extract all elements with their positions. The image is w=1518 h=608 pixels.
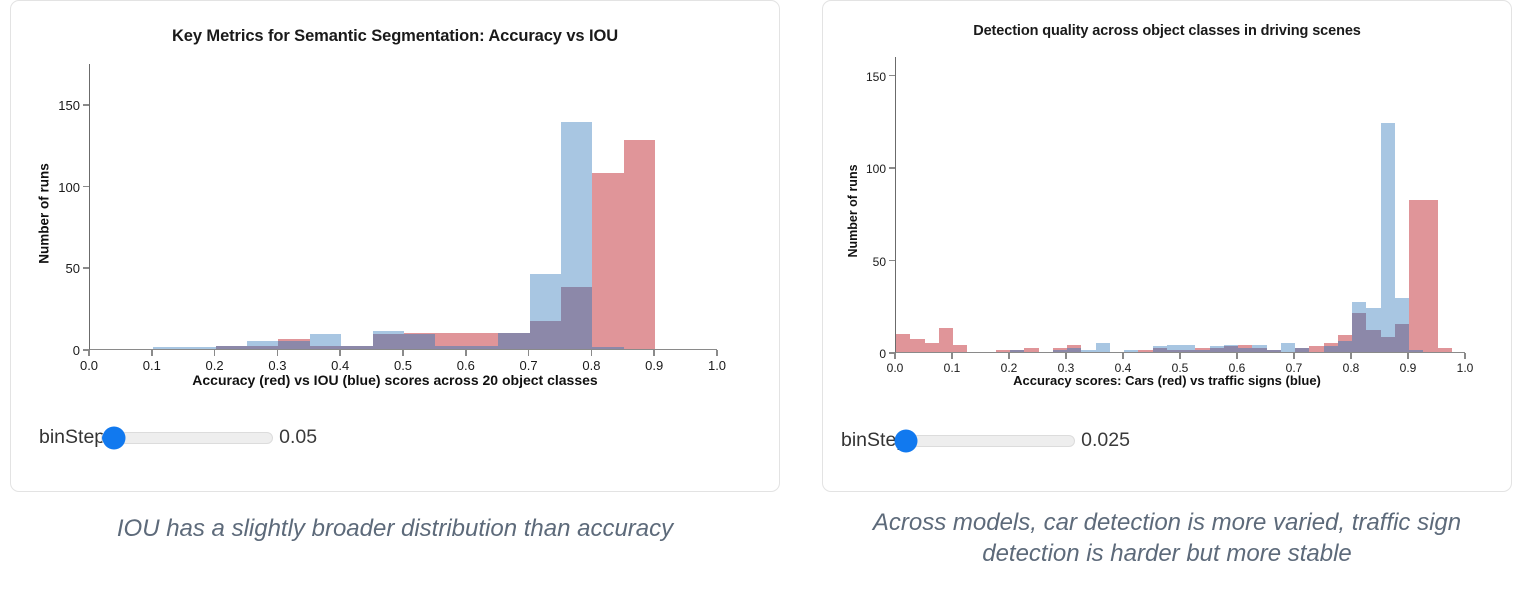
histogram-bar xyxy=(925,343,939,352)
histogram-bar-overlap xyxy=(467,346,498,349)
x-tick-mark xyxy=(1236,353,1238,359)
x-tick-mark xyxy=(214,350,216,356)
x-tick-label: 0.5 xyxy=(394,358,412,373)
x-tick-label: 0.1 xyxy=(143,358,161,373)
histogram-bar xyxy=(1438,348,1452,352)
histogram-bar-overlap xyxy=(310,346,341,349)
y-axis-label-left: Number of runs xyxy=(37,154,52,274)
y-axis-label-right: Number of runs xyxy=(846,151,860,271)
histogram-bar xyxy=(1138,350,1152,352)
chart-title-left: Key Metrics for Semantic Segmentation: A… xyxy=(11,27,779,46)
x-tick-label: 0.0 xyxy=(80,358,98,373)
y-tick-label: 50 xyxy=(66,261,80,276)
histogram-bar-overlap xyxy=(1167,350,1181,352)
histogram-bar xyxy=(1309,346,1323,352)
x-tick-mark xyxy=(528,350,530,356)
x-tick-label: 0.2 xyxy=(206,358,224,373)
histogram-bar xyxy=(1409,200,1423,352)
histogram-bars-right xyxy=(896,57,1465,352)
histogram-bar xyxy=(1024,348,1038,352)
histogram-bar-overlap xyxy=(404,334,435,349)
chart-card-left: Key Metrics for Semantic Segmentation: A… xyxy=(10,0,780,492)
plot-area-left: 0501001500.00.10.20.30.40.50.60.70.80.91… xyxy=(11,46,779,376)
slider-thumb[interactable] xyxy=(894,429,917,452)
x-tick-mark xyxy=(1008,353,1010,359)
histogram-bar xyxy=(1281,343,1295,352)
histogram-bar xyxy=(996,350,1010,352)
slider-label-binstep: binStep xyxy=(39,426,105,449)
histogram-bar xyxy=(624,140,655,349)
x-tick-mark xyxy=(1179,353,1181,359)
histogram-bar xyxy=(1381,123,1395,352)
y-tick-label: 100 xyxy=(866,162,886,176)
caption-left: IOU has a slightly broader distribution … xyxy=(10,514,780,545)
histogram-bar-overlap xyxy=(435,346,466,349)
histogram-bar-overlap xyxy=(1210,348,1224,352)
dashboard-root: Key Metrics for Semantic Segmentation: A… xyxy=(0,0,1518,608)
x-tick-mark xyxy=(1122,353,1124,359)
x-tick-mark xyxy=(339,350,341,356)
y-tick-label: 150 xyxy=(58,98,80,113)
histogram-bar xyxy=(153,347,184,349)
x-tick-mark xyxy=(402,350,404,356)
x-tick-label: 1.0 xyxy=(708,358,726,373)
histogram-bar xyxy=(896,334,910,353)
histogram-bar-overlap xyxy=(216,346,247,349)
histogram-bar-overlap xyxy=(373,334,404,349)
y-tick-label: 100 xyxy=(58,180,80,195)
x-tick-mark xyxy=(1293,353,1295,359)
histogram-bar xyxy=(1423,200,1437,352)
y-tick-label: 0 xyxy=(73,343,80,358)
panel-left: Key Metrics for Semantic Segmentation: A… xyxy=(10,0,800,608)
histogram-bar-overlap xyxy=(561,287,592,349)
histogram-bar xyxy=(1081,350,1095,352)
x-tick-mark xyxy=(88,350,90,356)
slider-row-left[interactable]: binStep 0.05 xyxy=(39,426,317,449)
histogram-bar-overlap xyxy=(341,346,372,349)
slider-row-right[interactable]: binStep 0.025 xyxy=(841,429,1130,452)
histogram-bar-overlap xyxy=(1252,348,1266,352)
y-tick-label: 0 xyxy=(879,347,886,361)
histogram-bar-overlap xyxy=(1053,350,1067,352)
y-tick-mark xyxy=(83,104,89,106)
histogram-bar-overlap xyxy=(1067,348,1081,352)
histogram-bar-overlap xyxy=(498,333,529,349)
slider-thumb[interactable] xyxy=(103,426,126,449)
histogram-bar-overlap xyxy=(1153,348,1167,352)
x-tick-mark xyxy=(653,350,655,356)
x-axis-label-left: Accuracy (red) vs IOU (blue) scores acro… xyxy=(11,372,779,388)
x-tick-label: 0.7 xyxy=(520,358,538,373)
histogram-bar xyxy=(1096,343,1110,352)
slider-value: 0.025 xyxy=(1081,429,1130,452)
histogram-bar-overlap xyxy=(1267,350,1281,352)
histogram-bar-overlap xyxy=(1324,346,1338,352)
caption-right: Across models, car detection is more var… xyxy=(822,508,1512,569)
x-tick-mark xyxy=(151,350,153,356)
histogram-bar-overlap xyxy=(1395,324,1409,352)
histogram-bar-overlap xyxy=(1366,330,1380,352)
histogram-bar-overlap xyxy=(1224,346,1238,352)
x-tick-mark xyxy=(465,350,467,356)
histogram-bar-overlap xyxy=(1338,341,1352,352)
x-tick-mark xyxy=(1464,353,1466,359)
y-tick-mark xyxy=(83,267,89,269)
x-tick-mark xyxy=(894,353,896,359)
x-tick-mark xyxy=(591,350,593,356)
x-tick-label: 0.6 xyxy=(457,358,475,373)
x-tick-mark xyxy=(716,350,718,356)
y-tick-label: 50 xyxy=(873,255,886,269)
histogram-bar-overlap xyxy=(530,321,561,349)
x-tick-label: 0.4 xyxy=(331,358,349,373)
histogram-bar-overlap xyxy=(1010,350,1024,352)
y-tick-mark xyxy=(889,167,895,169)
x-tick-label: 0.9 xyxy=(645,358,663,373)
histogram-bar-overlap xyxy=(1181,350,1195,352)
histogram-bar xyxy=(1124,350,1138,352)
chart-card-right: Detection quality across object classes … xyxy=(822,0,1512,492)
x-tick-mark xyxy=(1065,353,1067,359)
y-tick-mark xyxy=(83,186,89,188)
histogram-bar-overlap xyxy=(1295,348,1309,352)
histogram-bar xyxy=(939,328,953,352)
histogram-bar-overlap xyxy=(1195,350,1209,352)
x-tick-label: 0.3 xyxy=(268,358,286,373)
histogram-bar xyxy=(184,347,215,349)
histogram-bars-left xyxy=(90,64,717,349)
slider-value: 0.05 xyxy=(279,426,317,449)
histogram-bar xyxy=(953,345,967,352)
histogram-bar-overlap xyxy=(278,341,309,349)
y-tick-mark xyxy=(889,260,895,262)
x-tick-mark xyxy=(1350,353,1352,359)
y-tick-mark xyxy=(889,75,895,77)
x-tick-mark xyxy=(951,353,953,359)
histogram-bar-overlap xyxy=(592,347,623,349)
histogram-bar-overlap xyxy=(1381,337,1395,352)
histogram-bar xyxy=(910,339,924,352)
x-tick-label: 0.8 xyxy=(582,358,600,373)
histogram-bar-overlap xyxy=(1238,348,1252,352)
slider-track[interactable] xyxy=(903,435,1075,447)
panel-right: Detection quality across object classes … xyxy=(822,0,1512,608)
x-tick-mark xyxy=(1407,353,1409,359)
x-axis-label-right: Accuracy scores: Cars (red) vs traffic s… xyxy=(823,373,1511,388)
plot-area-right: 0501001500.00.10.20.30.40.50.60.70.80.91… xyxy=(823,39,1511,369)
histogram-bar-overlap xyxy=(247,346,278,349)
histogram-bar xyxy=(592,173,623,350)
slider-track[interactable] xyxy=(101,432,273,444)
x-tick-mark xyxy=(277,350,279,356)
histogram-bar-overlap xyxy=(1352,313,1366,352)
y-tick-label: 150 xyxy=(866,70,886,84)
chart-title-right: Detection quality across object classes … xyxy=(823,23,1511,39)
histogram-bar-overlap xyxy=(1409,350,1423,352)
